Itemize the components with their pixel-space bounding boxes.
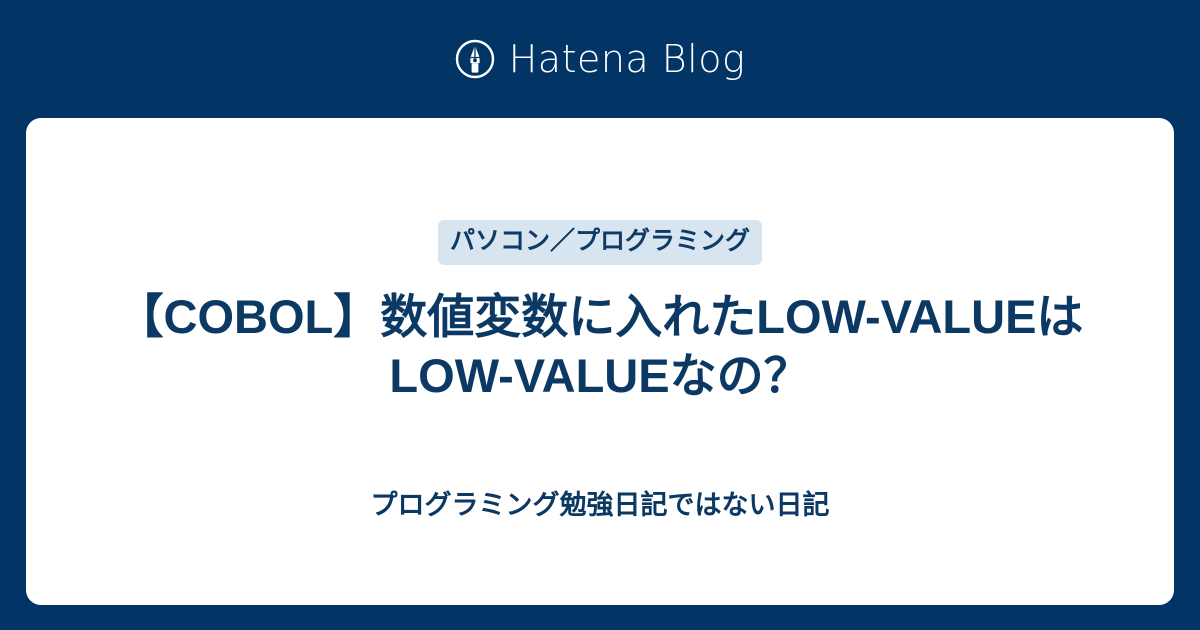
hatena-pen-nib-icon: [455, 39, 495, 79]
entry-title: 【COBOL】数値変数に入れたLOW-VALUEはLOW-VALUEなの？: [95, 287, 1105, 405]
blog-name[interactable]: プログラミング勉強日記ではない日記: [371, 489, 830, 521]
category-row: パソコン／プログラミング: [438, 220, 762, 265]
brand-name: Hatena Blog: [509, 40, 746, 78]
hatena-blog-og-card: Hatena Blog パソコン／プログラミング 【COBOL】数値変数に入れた…: [0, 0, 1200, 630]
brand-header: Hatena Blog: [455, 0, 746, 118]
category-tag[interactable]: パソコン／プログラミング: [438, 220, 762, 265]
entry-card: パソコン／プログラミング 【COBOL】数値変数に入れたLOW-VALUEはLO…: [26, 118, 1174, 605]
